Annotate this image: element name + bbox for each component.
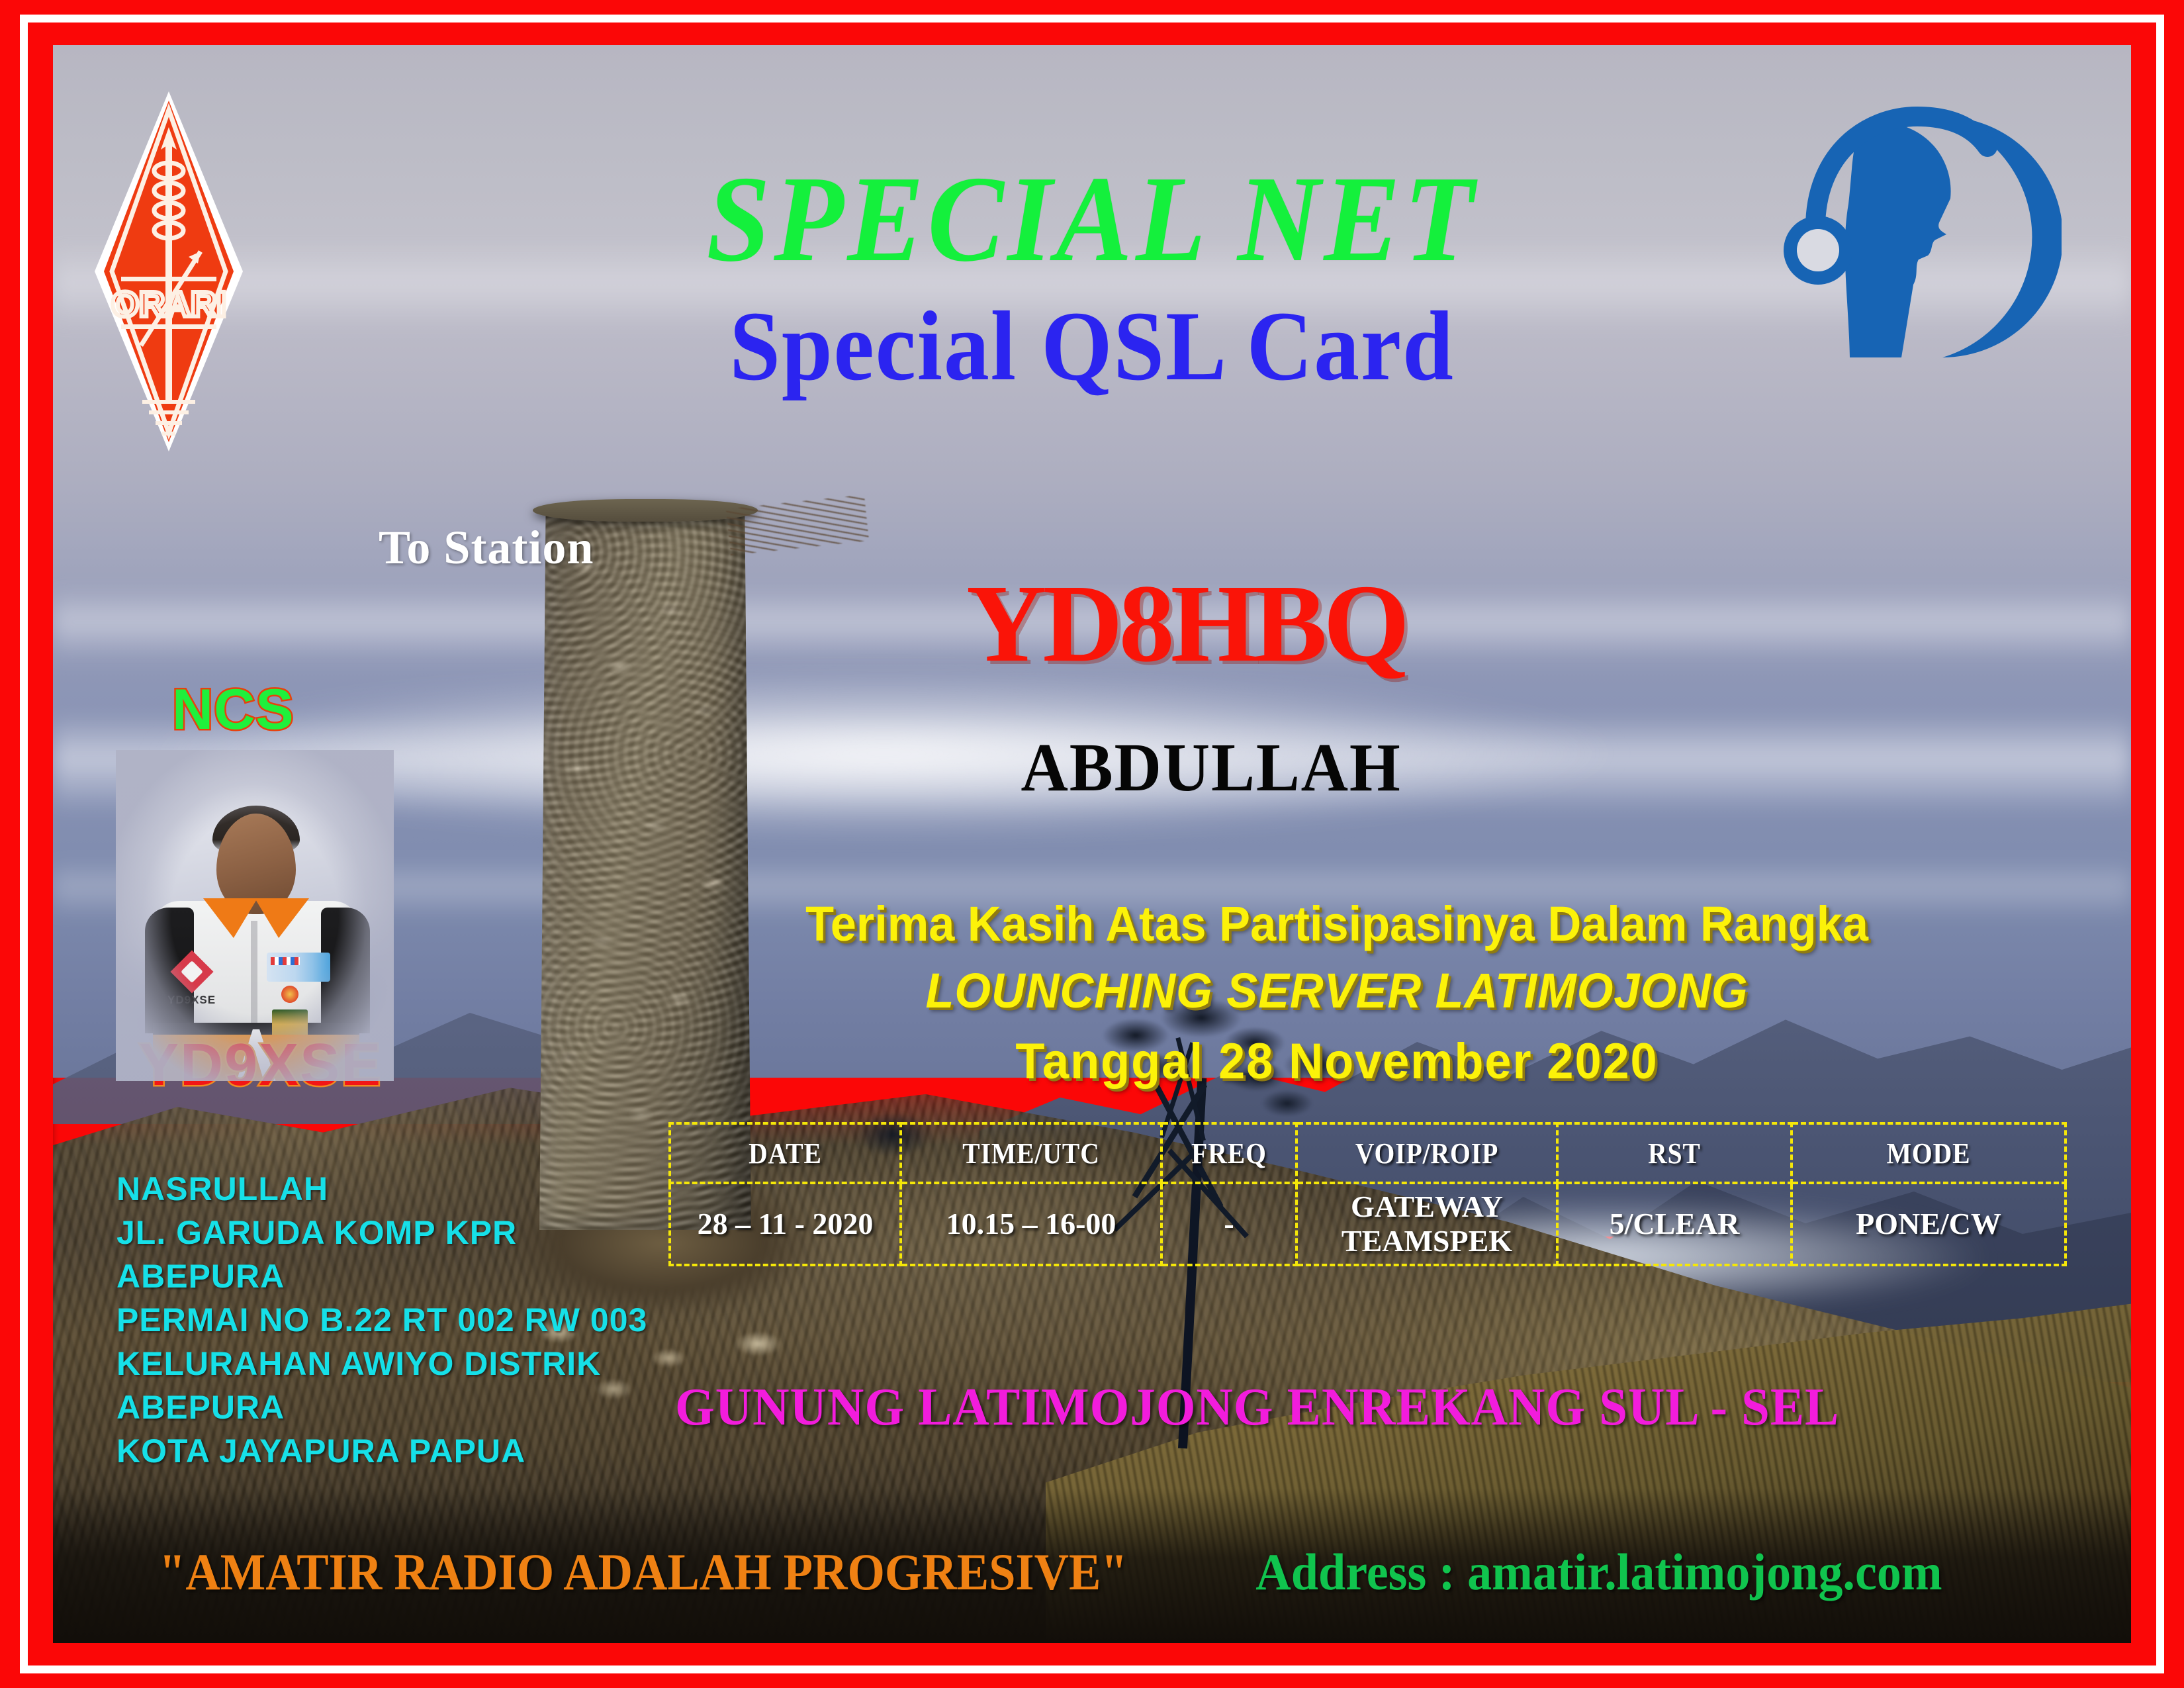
ncs-label: NCS	[172, 677, 295, 743]
station-address-block: NASRULLAH JL. GARUDA KOMP KPR ABEPURA PE…	[116, 1167, 647, 1473]
table-header-row: DATE TIME/UTC FREQ VOIP/ROIP RST MODE	[670, 1123, 2066, 1183]
cell-time-utc: 10.15 – 16-00	[901, 1183, 1161, 1265]
page-title-special-net: SPECIAL NET	[126, 158, 2058, 281]
qsl-card-body: ORARI	[53, 45, 2131, 1643]
address-line: KOTA JAYAPURA PAPUA	[116, 1429, 647, 1473]
to-station-label: To Station	[379, 520, 594, 575]
card-content-layer: ORARI	[53, 45, 2131, 1643]
cell-freq: -	[1161, 1183, 1297, 1265]
qso-log-table: DATE TIME/UTC FREQ VOIP/ROIP RST MODE 28…	[668, 1122, 2067, 1266]
column-header-voip-roip: VOIP/ROIP	[1310, 1123, 1545, 1183]
cell-voip-line-1: GATEWAY	[1298, 1190, 1556, 1224]
address-line: PERMAI NO B.22 RT 002 RW 003	[116, 1298, 647, 1342]
cell-mode: PONE/CW	[1792, 1183, 2066, 1265]
ncs-operator-photo: YD9XSE	[116, 750, 394, 1081]
qsl-card-outer-border: ORARI	[0, 0, 2184, 1688]
operator-name: ABDULLAH	[1021, 733, 1839, 802]
thanks-line-2-event: LOUNCHING SERVER LATIMOJONG	[683, 966, 1991, 1015]
address-line: KELURAHAN AWIYO DISTRIK	[116, 1342, 647, 1385]
cell-voip-roip: GATEWAY TEAMSPEK	[1297, 1183, 1557, 1265]
thanks-line-1: Terima Kasih Atas Partisipasinya Dalam R…	[683, 899, 1991, 949]
thanks-message-block: Terima Kasih Atas Partisipasinya Dalam R…	[649, 899, 2025, 1087]
address-line: JL. GARUDA KOMP KPR	[116, 1211, 647, 1254]
page-subtitle-qsl-card: Special QSL Card	[136, 297, 2048, 396]
station-callsign: YD8HBQ	[966, 568, 1827, 679]
address-line: ABEPURA	[116, 1385, 647, 1429]
cell-date: 28 – 11 - 2020	[670, 1183, 901, 1265]
photo-vignette	[116, 750, 394, 1081]
address-line: ABEPURA	[116, 1254, 647, 1298]
footer-motto: "AMATIR RADIO ADALAH PROGRESIVE"	[159, 1546, 1128, 1598]
thanks-line-3-date: Tanggal 28 November 2020	[683, 1036, 1991, 1088]
cell-voip-line-2: TEAMSPEK	[1298, 1224, 1556, 1258]
column-header-rst: RST	[1569, 1123, 1780, 1183]
footer-web-address: Address : amatir.latimojong.com	[1255, 1546, 1942, 1598]
address-line: NASRULLAH	[116, 1167, 647, 1211]
column-header-mode: MODE	[1805, 1123, 2052, 1183]
column-header-time-utc: TIME/UTC	[914, 1123, 1149, 1183]
column-header-freq: FREQ	[1168, 1123, 1290, 1183]
location-line: GUNUNG LATIMOJONG ENREKANG SUL - SEL	[675, 1381, 1946, 1434]
table-row: 28 – 11 - 2020 10.15 – 16-00 - GATEWAY T…	[670, 1183, 2066, 1265]
column-header-date: DATE	[681, 1123, 889, 1183]
cell-rst: 5/CLEAR	[1557, 1183, 1792, 1265]
